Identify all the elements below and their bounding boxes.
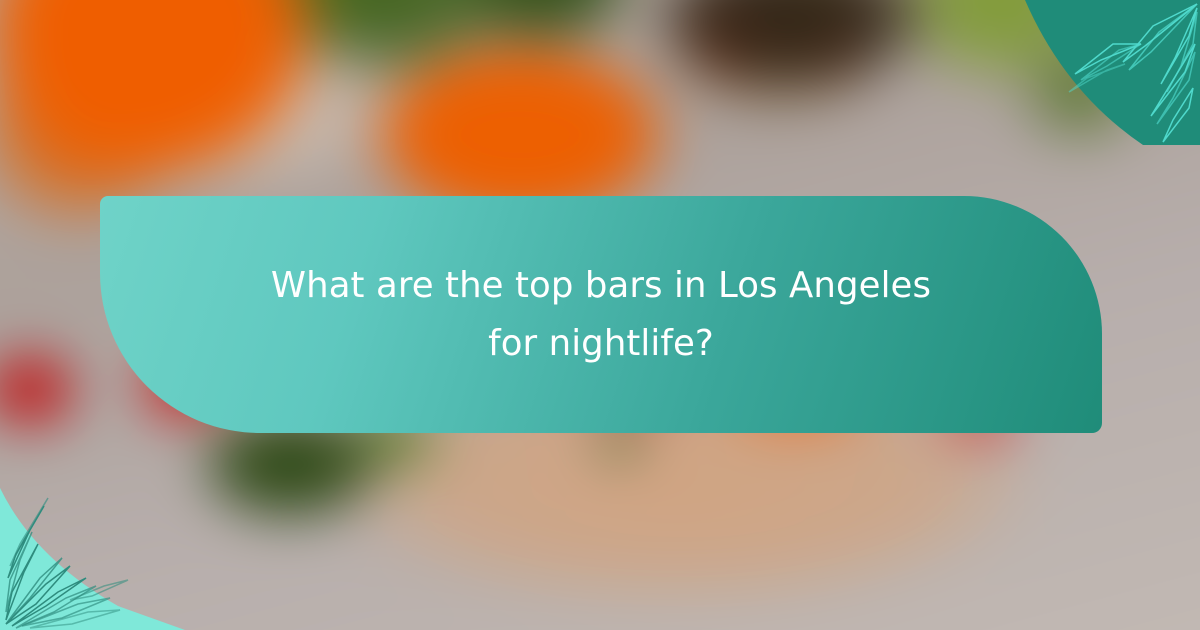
headline-card: What are the top bars in Los Angeles for…	[100, 196, 1102, 433]
page-title: What are the top bars in Los Angeles for…	[251, 257, 951, 372]
